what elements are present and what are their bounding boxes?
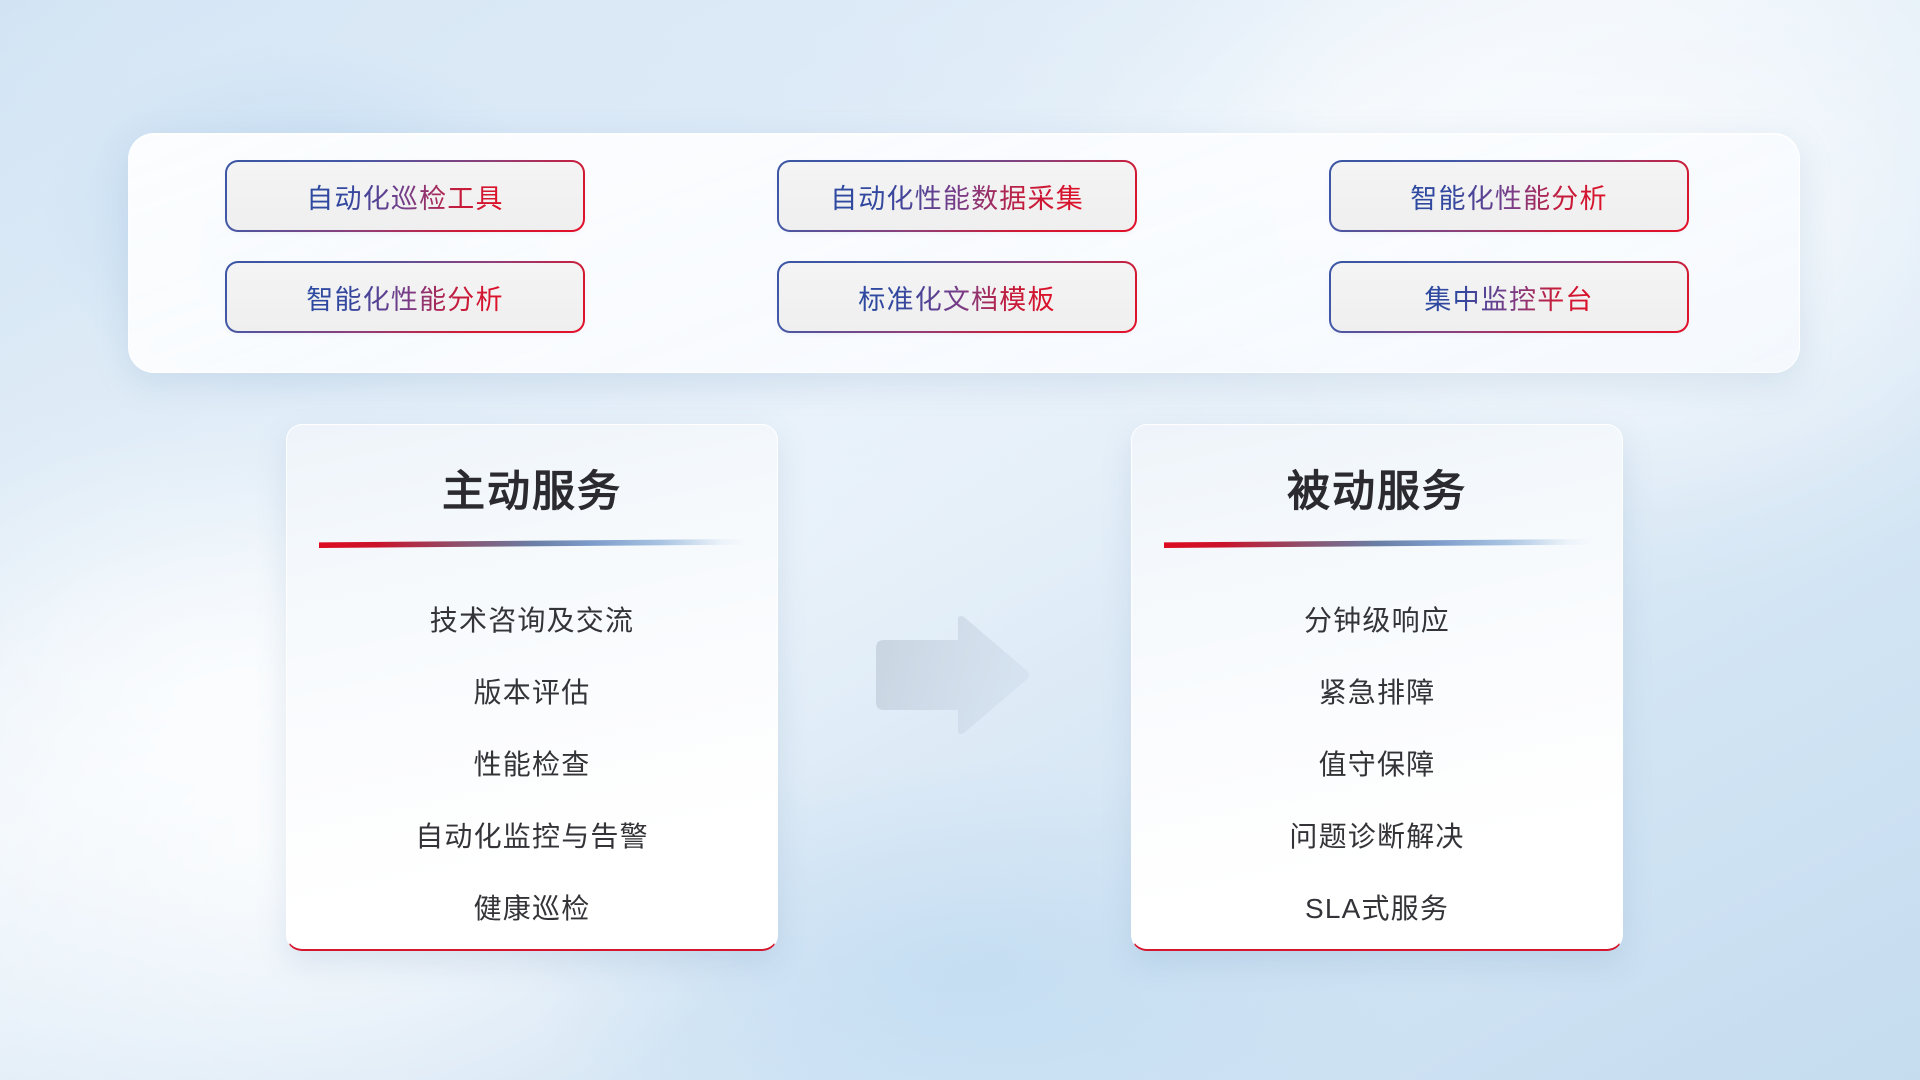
list-item: 自动化监控与告警 (415, 801, 649, 873)
capability-tags-panel: 自动化巡检工具 自动化性能数据采集 智能化性能分析 智能化性能分析 标准化文档模… (128, 133, 1800, 373)
service-card-reactive: 被动服务 分钟级响应 紧急排障 值守保障 问题诊断解决 SLA式服务 (1131, 424, 1623, 951)
card-divider (1164, 539, 1592, 548)
service-item-list: 技术咨询及交流 版本评估 性能检查 自动化监控与告警 健康巡检 (287, 585, 777, 945)
capability-tag-1[interactable]: 自动化性能数据采集 (779, 162, 1135, 230)
card-title: 主动服务 (287, 457, 777, 519)
card-divider (319, 539, 747, 548)
list-item: 紧急排障 (1319, 657, 1436, 729)
capability-tag-label: 智能化性能分析 (306, 278, 503, 317)
capability-tag-0[interactable]: 自动化巡检工具 (227, 162, 583, 230)
card-title: 被动服务 (1132, 457, 1622, 519)
capability-tags-grid: 自动化巡检工具 自动化性能数据采集 智能化性能分析 智能化性能分析 标准化文档模… (227, 162, 1707, 331)
arrow-right-icon (872, 614, 1032, 736)
capability-tag-3[interactable]: 智能化性能分析 (227, 263, 583, 331)
capability-tag-label: 智能化性能分析 (1410, 177, 1607, 216)
list-item: 问题诊断解决 (1289, 801, 1464, 873)
capability-tag-5[interactable]: 集中监控平台 (1331, 263, 1687, 331)
capability-tag-label: 集中监控平台 (1424, 278, 1593, 317)
list-item: 版本评估 (474, 657, 591, 729)
service-item-list: 分钟级响应 紧急排障 值守保障 问题诊断解决 SLA式服务 (1132, 585, 1622, 945)
list-item: SLA式服务 (1305, 873, 1449, 945)
capability-tag-label: 自动化巡检工具 (306, 177, 503, 216)
list-item: 分钟级响应 (1304, 585, 1450, 657)
list-item: 性能检查 (474, 729, 591, 801)
service-card-proactive: 主动服务 技术咨询及交流 版本评估 性能检查 自动化监控与告警 健康巡检 (286, 424, 778, 951)
slide-canvas: 自动化巡检工具 自动化性能数据采集 智能化性能分析 智能化性能分析 标准化文档模… (0, 0, 1920, 1080)
list-item: 健康巡检 (474, 873, 591, 945)
list-item: 技术咨询及交流 (430, 585, 634, 657)
list-item: 值守保障 (1319, 729, 1436, 801)
capability-tag-4[interactable]: 标准化文档模板 (779, 263, 1135, 331)
capability-tag-label: 自动化性能数据采集 (830, 177, 1084, 216)
capability-tag-label: 标准化文档模板 (858, 278, 1055, 317)
capability-tag-2[interactable]: 智能化性能分析 (1331, 162, 1687, 230)
